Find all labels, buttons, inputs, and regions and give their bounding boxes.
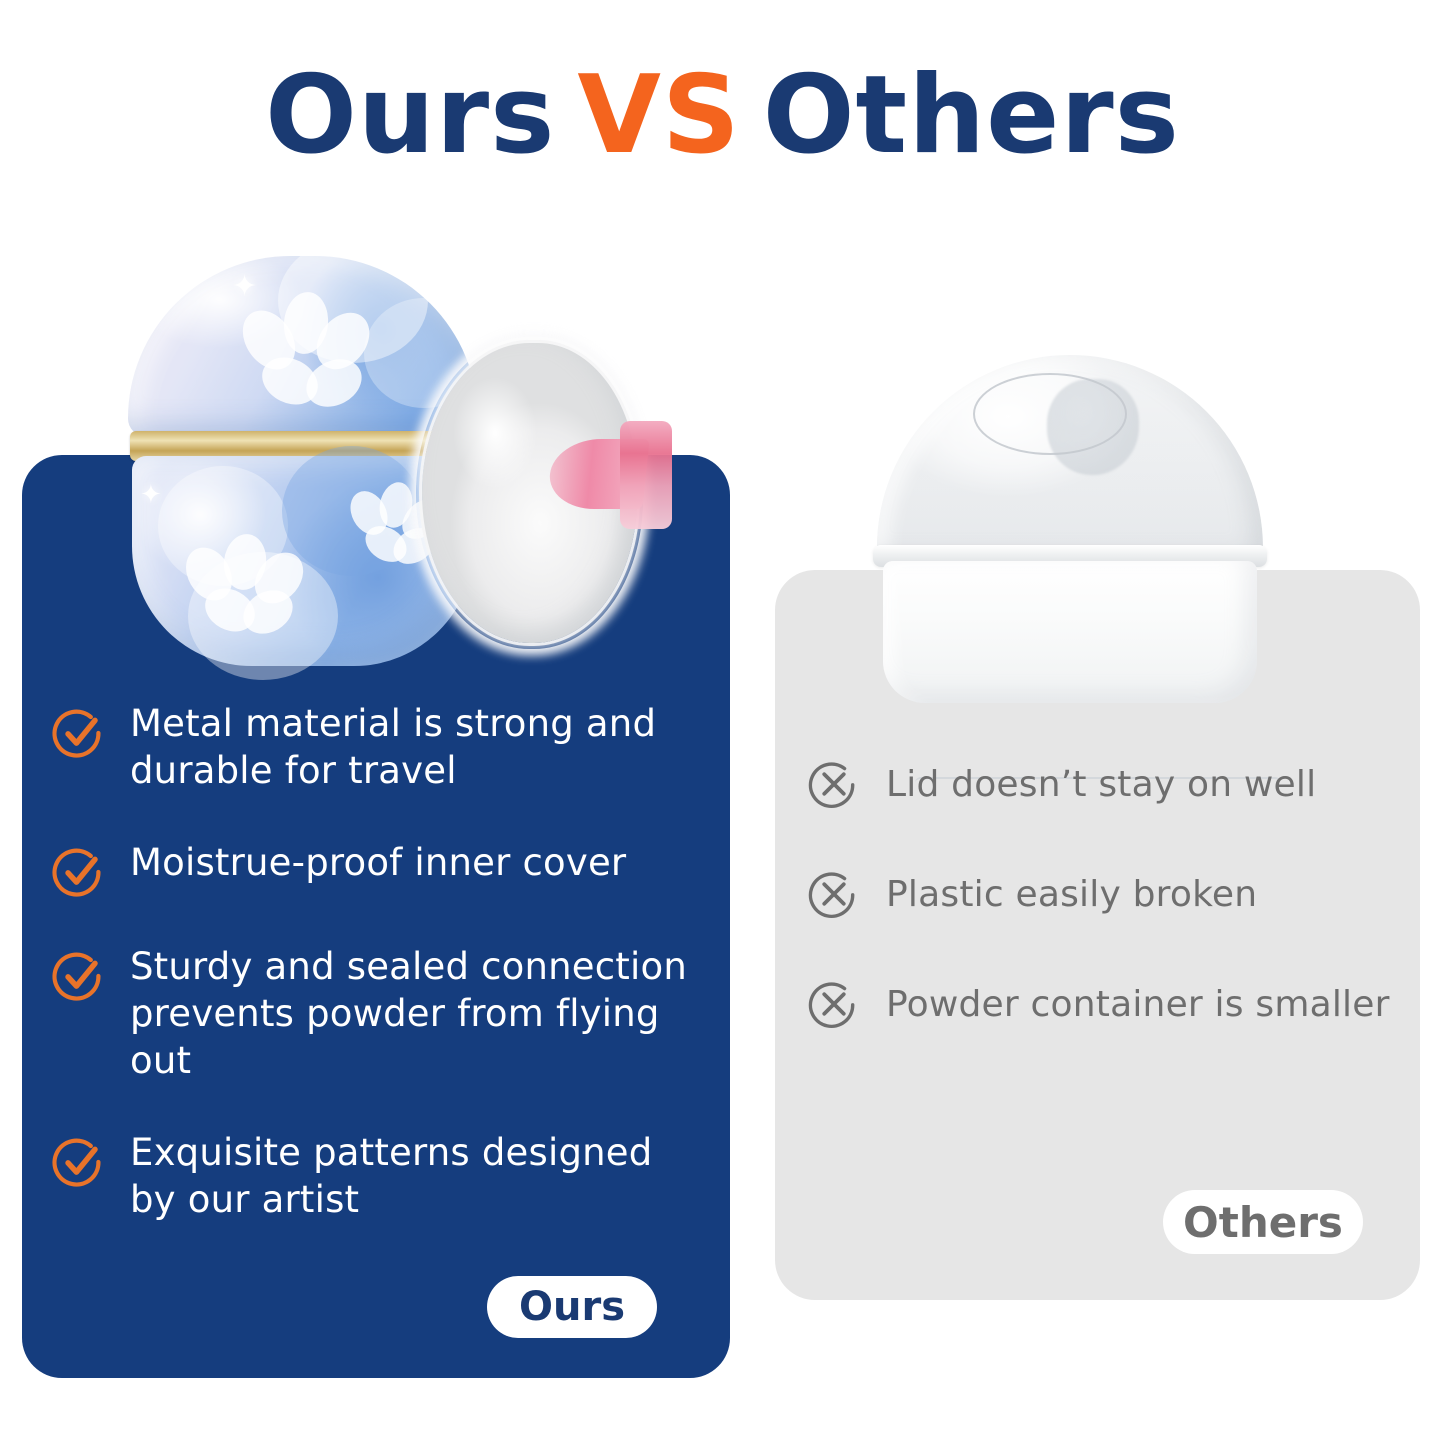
check-circle-icon [52, 1135, 106, 1189]
ours-feature-list: Metal material is strong and durable for… [52, 700, 722, 1224]
sparkle-icon: ✦ [140, 482, 162, 508]
title-ours-word: Ours [265, 62, 555, 170]
sparkle-icon: ✦ [232, 272, 257, 302]
list-item-label: Sturdy and sealed connection prevents po… [130, 943, 710, 1085]
title-others-word: Others [763, 62, 1180, 170]
check-circle-icon [52, 845, 106, 899]
puff-knob-handle [550, 421, 672, 529]
others-badge: Others [1163, 1190, 1363, 1254]
check-circle-icon [52, 949, 106, 1003]
list-item-label: Powder container is smaller [886, 982, 1390, 1027]
clear-dome-lid [877, 355, 1263, 561]
dome-ring [973, 373, 1127, 455]
list-item-label: Moistrue-proof inner cover [130, 839, 626, 886]
others-product-image [855, 355, 1285, 705]
list-item: Moistrue-proof inner cover [52, 839, 722, 899]
container-base [883, 561, 1257, 703]
list-item: Sturdy and sealed connection prevents po… [52, 943, 722, 1085]
list-item: Exquisite patterns designed by our artis… [52, 1129, 722, 1224]
x-circle-icon [808, 868, 860, 920]
list-item-label: Exquisite patterns designed by our artis… [130, 1129, 710, 1224]
powder-puff [422, 343, 662, 643]
check-circle-icon [52, 706, 106, 760]
ours-product-image: ✦ ✦ [110, 248, 720, 668]
title-vs-word: VS [577, 62, 740, 170]
list-item: Powder container is smaller [808, 978, 1408, 1030]
page-title: OursVSOthers [0, 62, 1445, 170]
list-item: Plastic easily broken [808, 868, 1408, 920]
list-item: Lid doesn’t stay on well [808, 758, 1408, 810]
list-item: Metal material is strong and durable for… [52, 700, 722, 795]
infographic-canvas: OursVSOthers ✦ [0, 0, 1445, 1445]
list-item-label: Lid doesn’t stay on well [886, 762, 1316, 807]
ours-badge: Ours [487, 1276, 657, 1338]
x-circle-icon [808, 978, 860, 1030]
x-circle-icon [808, 758, 860, 810]
others-drawback-list: Lid doesn’t stay on well Plastic easily … [808, 758, 1408, 1030]
list-item-label: Metal material is strong and durable for… [130, 700, 710, 795]
list-item-label: Plastic easily broken [886, 872, 1257, 917]
